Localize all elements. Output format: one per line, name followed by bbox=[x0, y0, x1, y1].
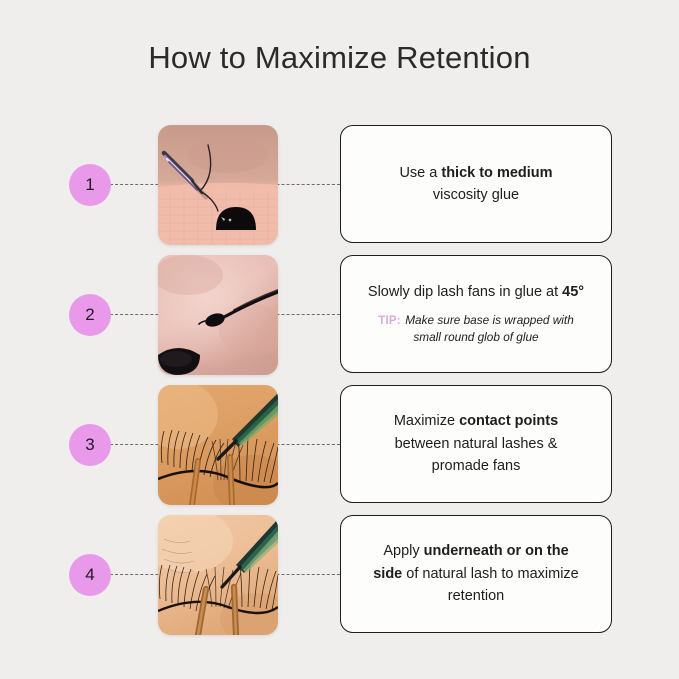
step-row: 2 bbox=[0, 255, 679, 375]
card-text-line: promade fans bbox=[432, 455, 521, 477]
steps-list: 1 bbox=[0, 125, 679, 645]
photo-lash-fan-dipped-in-glue bbox=[158, 255, 278, 375]
card-text-line: Apply underneath or on the bbox=[383, 540, 568, 562]
text-segment-bold: thick to medium bbox=[441, 165, 552, 181]
step-badge-4: 4 bbox=[69, 554, 111, 596]
step-badge-1: 1 bbox=[69, 164, 111, 206]
text-segment: Maximize bbox=[394, 413, 459, 429]
card-text-line: side of natural lash to maximize bbox=[373, 563, 579, 585]
text-segment: promade fans bbox=[432, 458, 521, 474]
step-row: 3 bbox=[0, 385, 679, 505]
step-card-1: Use a thick to medium viscosity glue bbox=[340, 125, 612, 243]
text-segment: Use a bbox=[399, 165, 441, 181]
text-segment: viscosity glue bbox=[433, 187, 519, 203]
tip-block: TIP: Make sure base is wrapped with smal… bbox=[378, 311, 574, 347]
photo-contact-points-natural-lashes bbox=[158, 385, 278, 505]
step-badge-3: 3 bbox=[69, 424, 111, 466]
tip-text-line: Make sure base is wrapped with bbox=[405, 313, 574, 327]
step-badge-2: 2 bbox=[69, 294, 111, 336]
text-segment-bold: side bbox=[373, 566, 402, 582]
step-number: 3 bbox=[85, 435, 94, 455]
text-segment: retention bbox=[448, 588, 504, 604]
card-text-line: Use a thick to medium bbox=[399, 162, 552, 184]
text-segment-bold: 45° bbox=[562, 284, 584, 300]
tip-label: TIP: bbox=[378, 315, 401, 327]
text-segment: Apply bbox=[383, 543, 423, 559]
step-card-2: Slowly dip lash fans in glue at 45° TIP:… bbox=[340, 255, 612, 373]
step-card-3: Maximize contact points between natural … bbox=[340, 385, 612, 503]
card-text-line: Maximize contact points bbox=[394, 410, 558, 432]
card-text-line: viscosity glue bbox=[433, 184, 519, 206]
card-text-line: between natural lashes & bbox=[395, 433, 558, 455]
step-number: 4 bbox=[85, 565, 94, 585]
text-segment: Slowly dip lash fans in glue at bbox=[368, 284, 562, 300]
step-card-4: Apply underneath or on the side of natur… bbox=[340, 515, 612, 633]
photo-apply-underneath-or-side bbox=[158, 515, 278, 635]
page-title: How to Maximize Retention bbox=[0, 40, 679, 76]
text-segment-bold: contact points bbox=[459, 413, 558, 429]
text-segment-bold: underneath or on the bbox=[424, 543, 569, 559]
step-row: 4 bbox=[0, 515, 679, 635]
step-row: 1 bbox=[0, 125, 679, 245]
card-text-line: retention bbox=[448, 585, 504, 607]
tip-text-line: small round glob of glue bbox=[378, 329, 574, 347]
step-number: 1 bbox=[85, 175, 94, 195]
text-segment: between natural lashes & bbox=[395, 436, 558, 452]
photo-tweezers-lash-and-glue-drop bbox=[158, 125, 278, 245]
card-text-line: Slowly dip lash fans in glue at 45° bbox=[368, 281, 584, 303]
step-number: 2 bbox=[85, 305, 94, 325]
text-segment: of natural lash to maximize bbox=[402, 566, 579, 582]
tip-first-line: TIP: Make sure base is wrapped with bbox=[378, 311, 574, 330]
